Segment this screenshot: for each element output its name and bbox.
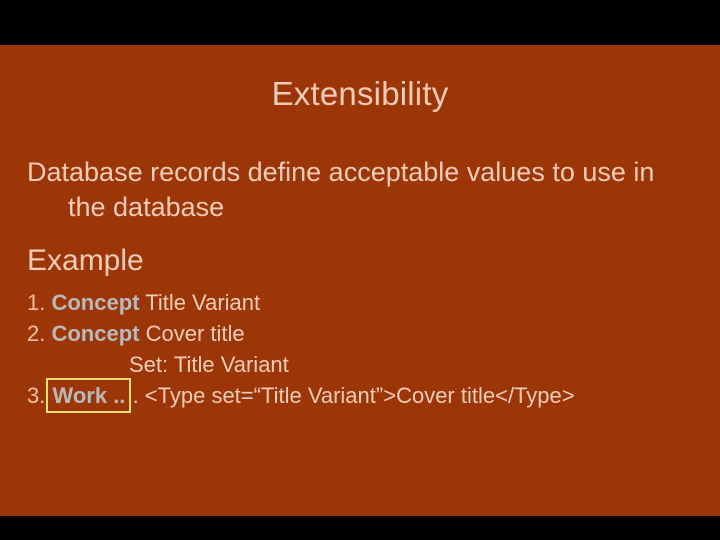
list-item: 2. Concept Cover title Set: Title Varian… [27,318,692,380]
list-item: 3. Work .. . <Type set=“Title Variant”>C… [27,380,692,411]
letterbox-bottom-bar [0,516,720,540]
list-item: 1. Concept Title Variant [27,287,692,318]
list-item-marker: 1. [27,290,45,315]
list-item-text: Title Variant [145,290,260,315]
slide-title: Extensibility [0,75,720,113]
list-item-keyword: Concept [51,290,139,315]
list-item-keyword: Concept [51,321,139,346]
slide-frame: Extensibility Database records define ac… [0,0,720,540]
letterbox-top-bar [0,0,720,45]
list-item-marker: 3. [27,383,45,408]
list-item-text: Cover title [146,321,245,346]
list-item-subline: Set: Title Variant [78,349,692,380]
highlighted-keyword-box: Work .. [51,383,126,408]
slide-canvas: Extensibility Database records define ac… [0,45,720,516]
lead-paragraph: Database records define acceptable value… [27,155,692,225]
slide-body: Database records define acceptable value… [27,155,692,411]
list-item-marker: 2. [27,321,45,346]
example-heading: Example [27,241,692,281]
numbered-list: 1. Concept Title Variant 2. Concept Cove… [27,287,692,411]
list-item-text: . <Type set=“Title Variant”>Cover title<… [133,383,575,408]
